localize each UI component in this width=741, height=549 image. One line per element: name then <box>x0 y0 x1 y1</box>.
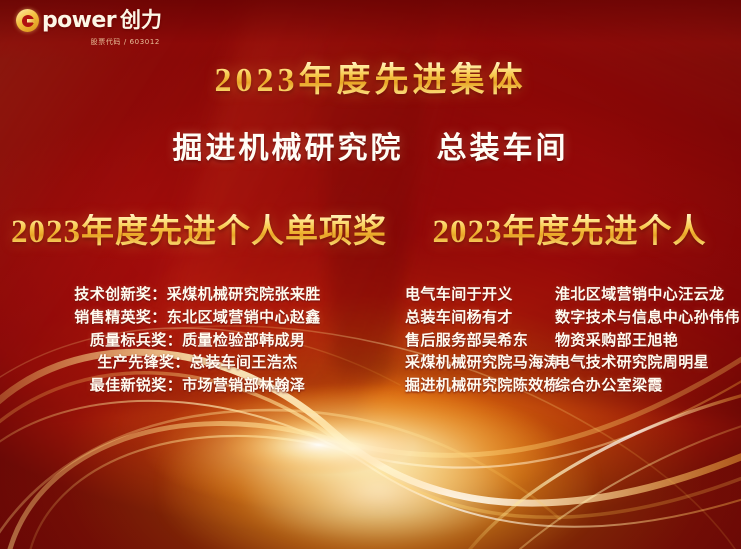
logo-wordmark: power 创力 <box>16 9 162 32</box>
section-headings: 2023年度先进个人单项奖 2023年度先进个人 <box>0 214 741 252</box>
award-list-individual: 电气车间于开义 淮北区域营销中心汪云龙 总装车间杨有才 数字技术与信息中心孙伟伟… <box>395 284 741 398</box>
list-item: 总装车间杨有才 数字技术与信息中心孙伟伟 <box>395 307 741 330</box>
recipient-left: 电气车间于开义 <box>395 284 555 307</box>
recipient-left: 总装车间杨有才 <box>395 307 555 330</box>
list-item: 销售精英奖：东北区域营销中心赵鑫 <box>74 307 320 330</box>
logo-text-cn: 创力 <box>120 10 162 31</box>
power-plug-circle-icon <box>16 9 39 32</box>
heading-individual-special-award: 2023年度先进个人单项奖 <box>0 214 398 252</box>
heading-advanced-individual: 2023年度先进个人 <box>398 214 741 252</box>
logo-text-en: power <box>42 10 116 32</box>
recipient-left: 售后服务部吴希东 <box>395 330 555 353</box>
award-columns: 技术创新奖：采煤机械研究院张来胜 销售精英奖：东北区域营销中心赵鑫 质量标兵奖：… <box>0 284 741 398</box>
list-item: 生产先锋奖：总装车间王浩杰 <box>97 352 297 375</box>
recipient-right: 物资采购部王旭艳 <box>555 330 731 353</box>
recipient-left: 采煤机械研究院马海涛 <box>395 352 555 375</box>
recipient-right: 电气技术研究院周明星 <box>555 352 731 375</box>
list-item: 质量标兵奖：质量检验部韩成男 <box>90 330 306 353</box>
company-logo[interactable]: power 创力 股票代码 / 603012 <box>16 9 162 47</box>
list-item: 技术创新奖：采煤机械研究院张来胜 <box>74 284 320 307</box>
recipient-right: 综合办公室梁霞 <box>555 375 731 398</box>
award-poster: power 创力 股票代码 / 603012 2023年度先进集体 掘进机械研究… <box>0 0 741 549</box>
list-item: 售后服务部吴希东 物资采购部王旭艳 <box>395 330 741 353</box>
poster-subtitle: 掘进机械研究院 总装车间 <box>0 132 741 165</box>
award-list-special: 技术创新奖：采煤机械研究院张来胜 销售精英奖：东北区域营销中心赵鑫 质量标兵奖：… <box>0 284 395 398</box>
recipient-right: 淮北区域营销中心汪云龙 <box>555 284 731 307</box>
recipient-left: 掘进机械研究院陈效栋 <box>395 375 555 398</box>
list-item: 掘进机械研究院陈效栋 综合办公室梁霞 <box>395 375 741 398</box>
list-item: 最佳新锐奖：市场营销部林翰泽 <box>90 375 306 398</box>
list-item: 电气车间于开义 淮北区域营销中心汪云龙 <box>395 284 741 307</box>
recipient-right: 数字技术与信息中心孙伟伟 <box>555 307 731 330</box>
list-item: 采煤机械研究院马海涛 电气技术研究院周明星 <box>395 352 741 375</box>
stock-code-label: 股票代码 / 603012 <box>91 37 160 47</box>
poster-title: 2023年度先进集体 <box>0 62 741 99</box>
